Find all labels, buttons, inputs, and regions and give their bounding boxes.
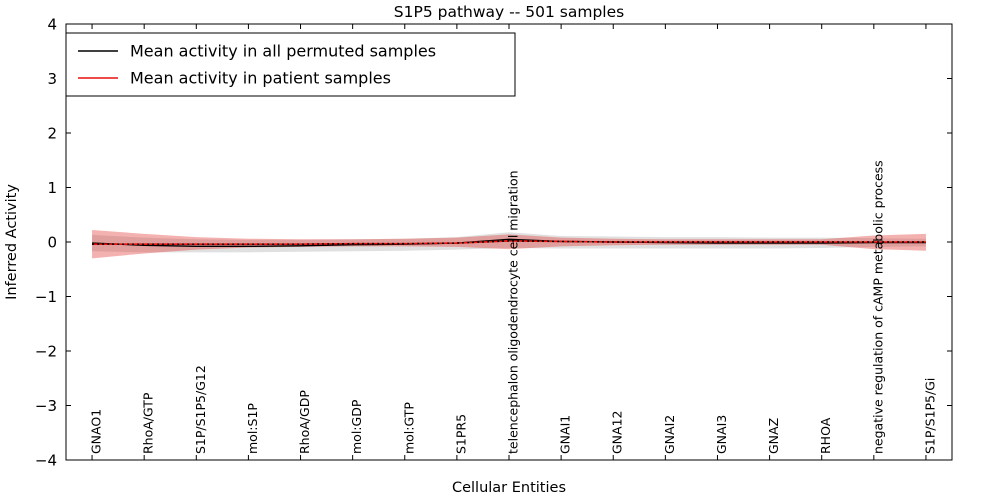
- y-tick-label: −2: [35, 343, 57, 361]
- x-axis-title: Cellular Entities: [452, 480, 566, 496]
- x-tick-label: GNAO1: [89, 409, 104, 454]
- y-tick-label: 3: [47, 70, 57, 88]
- x-tick-label: RhoA/GTP: [141, 392, 156, 454]
- x-tick-label: S1P/S1P5/Gi: [922, 378, 937, 454]
- y-tick-label: 2: [47, 125, 57, 143]
- y-tick-label: −1: [35, 288, 57, 306]
- x-tick-label: negative regulation of cAMP metabolic pr…: [870, 160, 885, 454]
- x-tick-label: S1PR5: [453, 414, 468, 454]
- legend-label-permuted: Mean activity in all permuted samples: [130, 42, 436, 61]
- y-tick-label: 0: [47, 234, 57, 252]
- x-tick-label: GNAZ: [766, 418, 781, 454]
- x-tick-label: mol:GTP: [401, 402, 416, 454]
- x-tick-label: GNA12: [610, 411, 625, 455]
- y-tick-label: 4: [47, 16, 57, 34]
- y-tick-label: 1: [47, 179, 57, 197]
- y-axis-title: Inferred Activity: [4, 184, 20, 300]
- y-tick-label: −3: [35, 397, 57, 415]
- x-tick-label: RHOA: [818, 417, 833, 454]
- x-tick-label: mol:S1P: [245, 403, 260, 454]
- x-tick-label: telencephalon oligodendrocyte cell migra…: [506, 170, 521, 454]
- chart-title: S1P5 pathway -- 501 samples: [394, 3, 624, 21]
- x-tick-label: mol:GDP: [349, 399, 364, 454]
- x-tick-label: GNAI3: [714, 415, 729, 454]
- legend: Mean activity in all permuted samplesMea…: [66, 33, 515, 96]
- x-tick-label: GNAI2: [662, 415, 677, 454]
- chart-figure: −4−3−2−101234 GNAO1RhoA/GTPS1P/S1P5/G12m…: [0, 0, 1000, 500]
- x-tick-label: RhoA/GDP: [297, 390, 312, 454]
- chart-canvas: −4−3−2−101234 GNAO1RhoA/GTPS1P/S1P5/G12m…: [0, 0, 1000, 500]
- x-tick-label: S1P/S1P5/G12: [193, 365, 208, 454]
- y-tick-label: −4: [35, 452, 57, 470]
- x-tick-label: GNAI1: [558, 415, 573, 454]
- legend-label-patient: Mean activity in patient samples: [130, 69, 391, 88]
